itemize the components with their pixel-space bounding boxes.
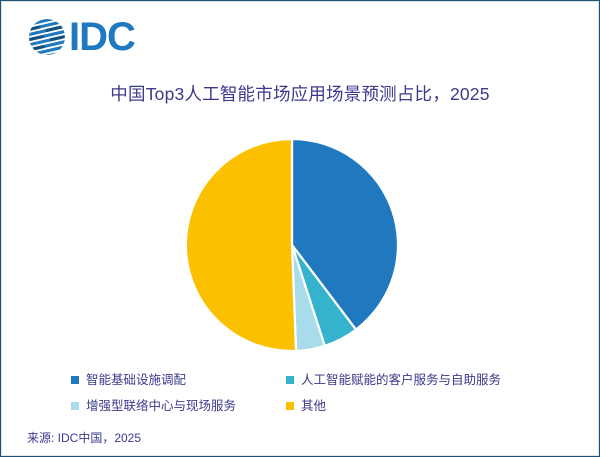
legend-item-1[interactable]: 人工智能赋能的客户服务与自助服务 <box>286 374 541 387</box>
chart-legend: 智能基础设施调配 人工智能赋能的客户服务与自助服务 增强型联络中心与现场服务 其… <box>71 367 541 419</box>
idc-logo: IDC <box>27 15 135 59</box>
legend-item-3[interactable]: 其他 <box>286 400 541 413</box>
idc-globe-icon <box>27 17 67 57</box>
pie-slice-3[interactable] <box>186 139 296 351</box>
legend-swatch-0 <box>71 376 79 384</box>
legend-swatch-1 <box>286 376 294 384</box>
legend-item-2[interactable]: 增强型联络中心与现场服务 <box>71 400 286 413</box>
legend-item-0[interactable]: 智能基础设施调配 <box>71 374 286 387</box>
legend-label-0: 智能基础设施调配 <box>86 374 186 387</box>
pie-chart-svg <box>185 138 399 352</box>
legend-label-1: 人工智能赋能的客户服务与自助服务 <box>301 374 501 387</box>
chart-title: 中国Top3人工智能市场应用场景预测占比，2025 <box>1 81 599 106</box>
source-note: 来源: IDC中国，2025 <box>27 429 141 446</box>
legend-label-2: 增强型联络中心与现场服务 <box>86 400 236 413</box>
chart-page: IDC 中国Top3人工智能市场应用场景预测占比，2025 智能基础设施调配 人… <box>0 0 600 457</box>
idc-logo-text: IDC <box>69 17 135 57</box>
legend-label-3: 其他 <box>301 400 326 413</box>
legend-swatch-2 <box>71 402 79 410</box>
legend-swatch-3 <box>286 402 294 410</box>
pie-chart <box>185 138 399 352</box>
